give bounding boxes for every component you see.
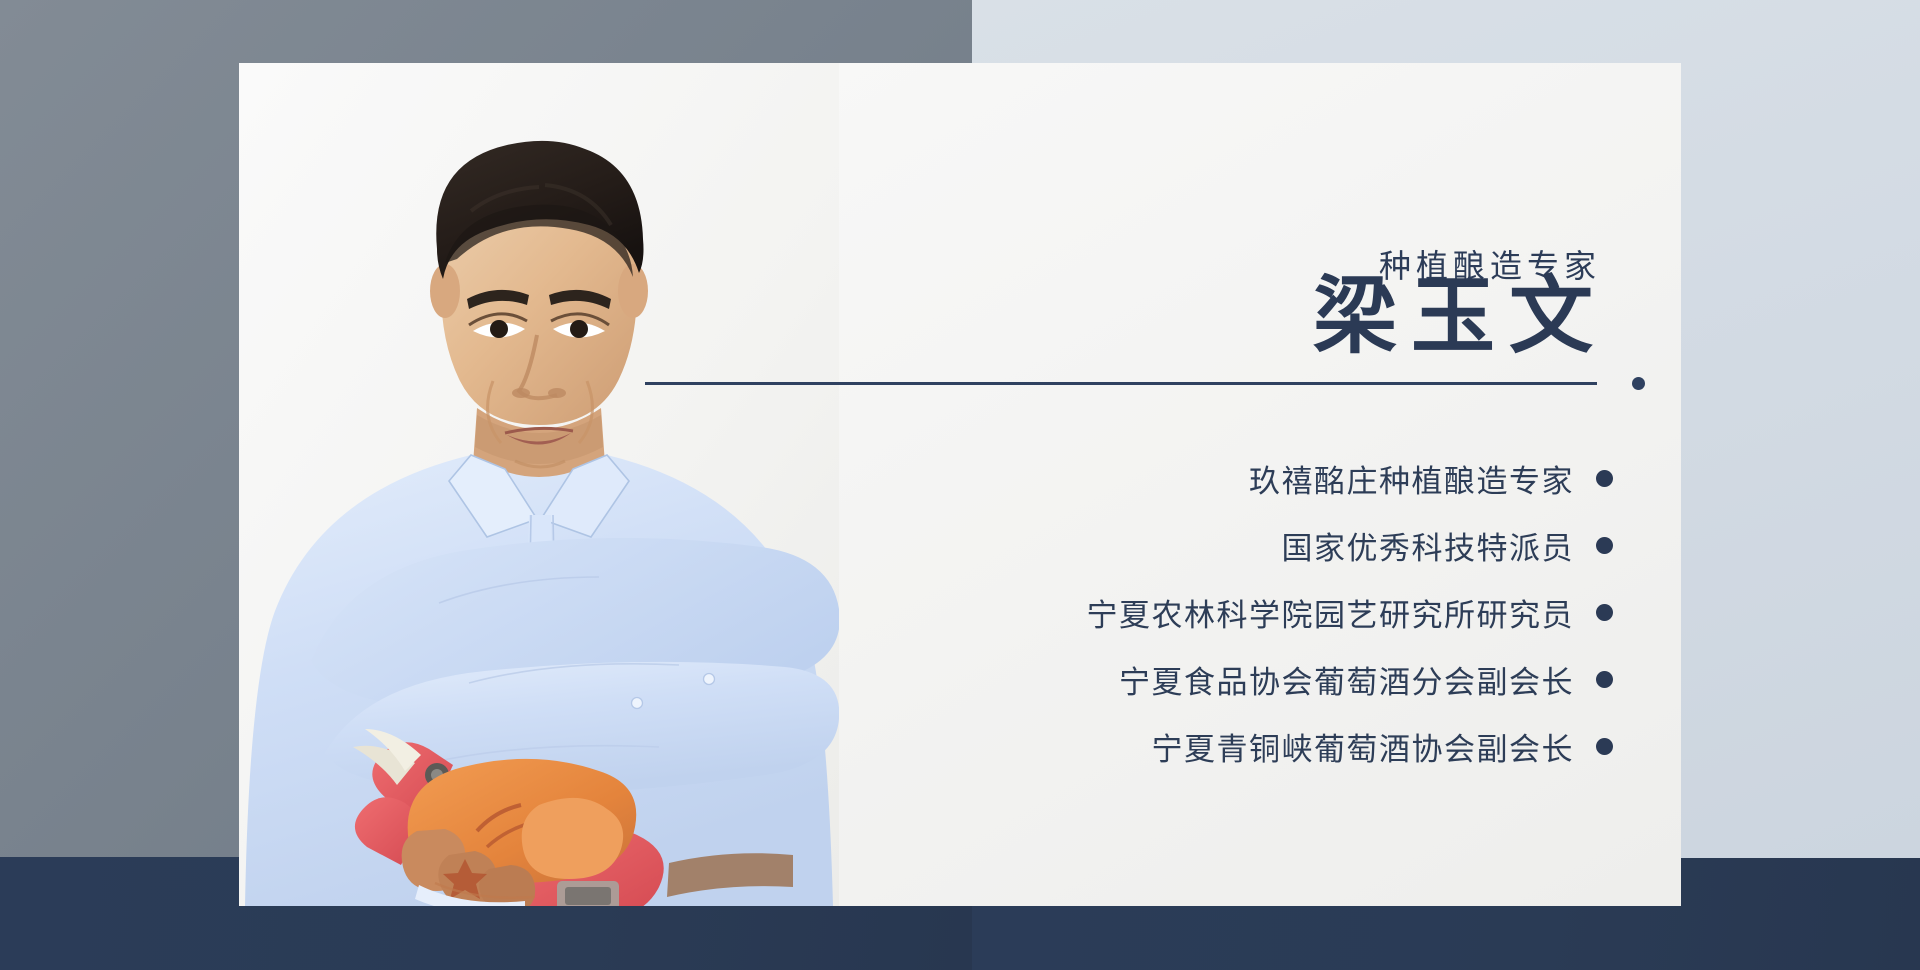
credential-label: 宁夏农林科学院园艺研究所研究员 — [1087, 590, 1575, 635]
profile-card: 种植酿造专家 梁玉文 玖禧酩庄种植酿造专家 国家优秀科技特派员 宁夏农林科学院园… — [239, 63, 1681, 906]
list-item: 宁夏农林科学院园艺研究所研究员 — [793, 579, 1613, 646]
list-item: 玖禧酩庄种植酿造专家 — [793, 445, 1613, 512]
divider-line — [645, 382, 1597, 385]
list-item: 宁夏食品协会葡萄酒分会副会长 — [793, 646, 1613, 713]
bullet-dot-icon — [1596, 671, 1613, 688]
portrait-photo — [239, 63, 839, 906]
divider — [645, 381, 1645, 385]
bullet-dot-icon — [1596, 738, 1613, 755]
credential-label: 宁夏食品协会葡萄酒分会副会长 — [1119, 657, 1574, 702]
bullet-dot-icon — [1596, 537, 1613, 554]
divider-end-dot-icon — [1632, 377, 1645, 390]
bullet-dot-icon — [1596, 470, 1613, 487]
banner-stage: 种植酿造专家 梁玉文 玖禧酩庄种植酿造专家 国家优秀科技特派员 宁夏农林科学院园… — [0, 0, 1920, 970]
credential-label: 宁夏青铜峡葡萄酒协会副会长 — [1152, 724, 1575, 769]
credentials-list: 玖禧酩庄种植酿造专家 国家优秀科技特派员 宁夏农林科学院园艺研究所研究员 宁夏食… — [793, 445, 1613, 780]
bullet-dot-icon — [1596, 604, 1613, 621]
list-item: 宁夏青铜峡葡萄酒协会副会长 — [793, 713, 1613, 780]
expert-name: 梁玉文 — [1313, 273, 1607, 364]
credential-label: 玖禧酩庄种植酿造专家 — [1249, 456, 1574, 501]
list-item: 国家优秀科技特派员 — [793, 512, 1613, 579]
credential-label: 国家优秀科技特派员 — [1282, 523, 1575, 568]
